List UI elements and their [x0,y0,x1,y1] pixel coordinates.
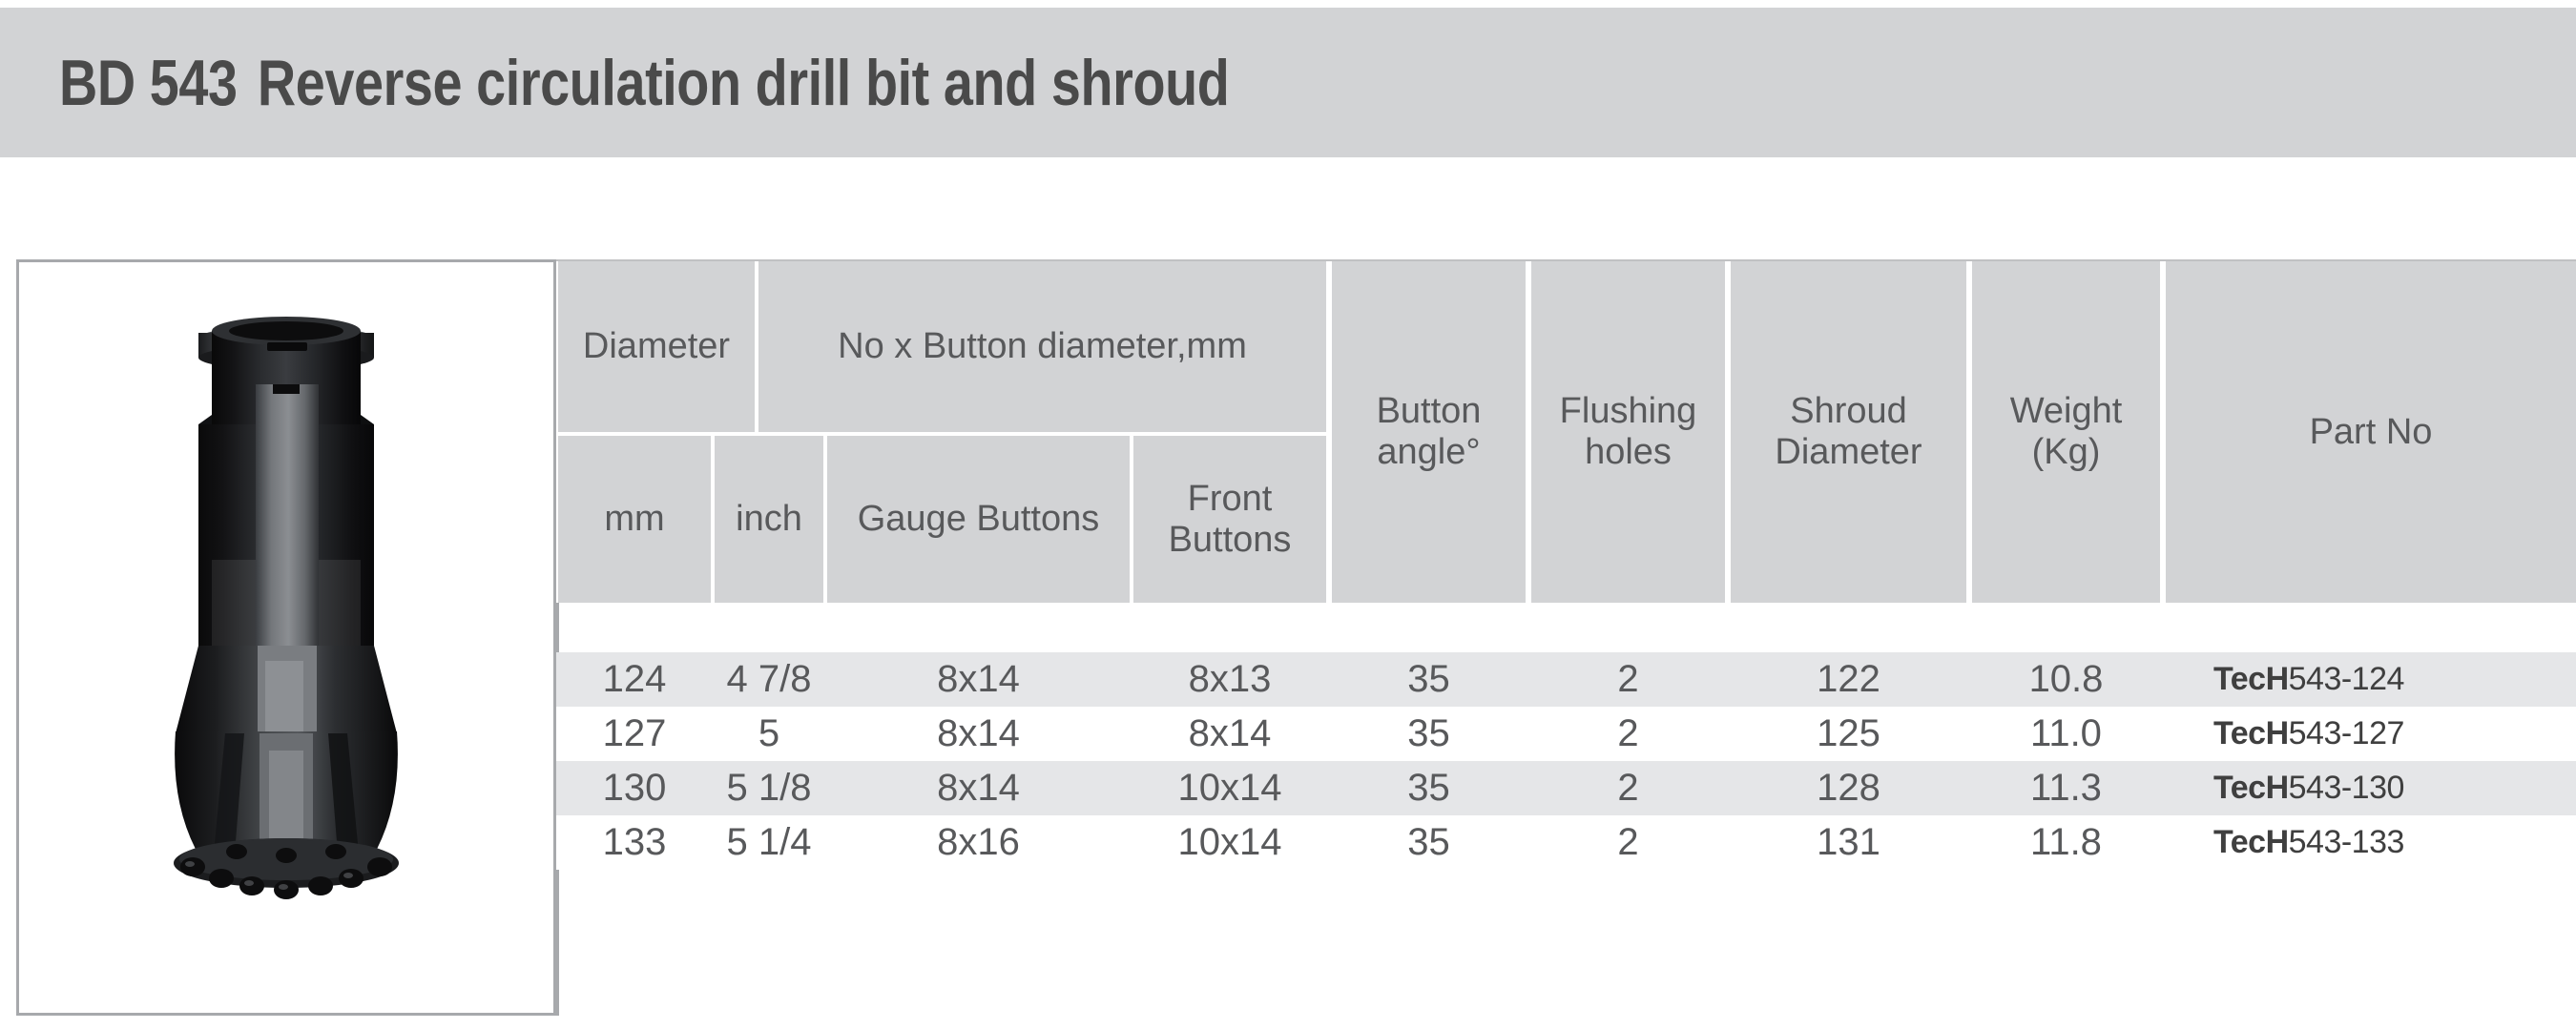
title-banner: BD 543Reverse circulation drill bit and … [0,8,2576,157]
part-no-number: 543-130 [2289,770,2404,807]
drill-bit-image [153,302,420,970]
cell-flushing-holes: 2 [1531,815,1725,870]
cell-gauge-buttons: 8x16 [827,815,1130,870]
cell-part-no: TecH543-133 [2213,815,2576,870]
header-part-no: Part No [2166,261,2576,603]
cell-shroud-diameter: 122 [1731,652,1966,707]
table-row[interactable]: 133 5 1/4 8x16 10x14 35 2 131 11.8 TecH5… [556,815,2576,870]
cell-front-buttons: 10x14 [1133,815,1326,870]
part-no-prefix: TecH [2213,715,2289,752]
cell-button-angle: 35 [1332,761,1526,815]
header-group-button-diameter: No x Button diameter,mm [758,261,1326,432]
part-no-number: 543-133 [2289,824,2404,861]
content-area: Diameter No x Button diameter,mm mm inch… [0,259,2576,1018]
header-inch: inch [715,436,823,603]
table-row[interactable]: 130 5 1/8 8x14 10x14 35 2 128 11.3 TecH5… [556,761,2576,815]
cell-shroud-diameter: 128 [1731,761,1966,815]
cell-button-angle: 35 [1332,815,1526,870]
cell-part-no: TecH543-127 [2213,707,2576,761]
cell-front-buttons: 8x13 [1133,652,1326,707]
cell-part-no: TecH543-130 [2213,761,2576,815]
cell-flushing-holes: 2 [1531,707,1725,761]
cell-flushing-holes: 2 [1531,652,1725,707]
cell-front-buttons: 8x14 [1133,707,1326,761]
cell-inch: 5 1/8 [715,761,823,815]
cell-button-angle: 35 [1332,707,1526,761]
cell-gauge-buttons: 8x14 [827,761,1130,815]
cell-front-buttons: 10x14 [1133,761,1326,815]
cell-weight: 10.8 [1972,652,2160,707]
header-weight: Weight (Kg) [1972,261,2160,603]
cell-weight: 11.3 [1972,761,2160,815]
cell-shroud-diameter: 125 [1731,707,1966,761]
part-no-prefix: TecH [2213,661,2289,698]
header-gauge-buttons: Gauge Buttons [827,436,1130,603]
cell-part-no: TecH543-124 [2213,652,2576,707]
model-code: BD 543 [59,47,238,119]
product-image-cell [16,259,556,1016]
header-group-diameter: Diameter [558,261,755,432]
cell-gauge-buttons: 8x14 [827,652,1130,707]
table-header: Diameter No x Button diameter,mm mm inch… [556,261,2576,603]
header-front-buttons: Front Buttons [1133,436,1326,603]
part-no-prefix: TecH [2213,824,2289,861]
cell-gauge-buttons: 8x14 [827,707,1130,761]
header-shroud-diameter: Shroud Diameter [1731,261,1966,603]
page-title: BD 543Reverse circulation drill bit and … [59,46,1229,120]
cell-inch: 5 [715,707,823,761]
cell-mm: 124 [558,652,711,707]
table-row[interactable]: 124 4 7/8 8x14 8x13 35 2 122 10.8 TecH54… [556,652,2576,707]
cell-inch: 4 7/8 [715,652,823,707]
cell-weight: 11.0 [1972,707,2160,761]
cell-mm: 127 [558,707,711,761]
cell-shroud-diameter: 131 [1731,815,1966,870]
cell-button-angle: 35 [1332,652,1526,707]
specification-table: Diameter No x Button diameter,mm mm inch… [556,259,2576,1016]
part-no-prefix: TecH [2213,770,2289,807]
header-flushing-holes: Flushing holes [1531,261,1725,603]
table-spacer-row [556,603,2576,652]
header-mm: mm [558,436,711,603]
cell-weight: 11.8 [1972,815,2160,870]
part-no-number: 543-124 [2289,661,2404,698]
cell-flushing-holes: 2 [1531,761,1725,815]
cell-mm: 133 [558,815,711,870]
cell-mm: 130 [558,761,711,815]
header-button-angle: Button angle° [1332,261,1526,603]
table-row[interactable]: 127 5 8x14 8x14 35 2 125 11.0 TecH543-12… [556,707,2576,761]
part-no-number: 543-127 [2289,715,2404,752]
title-text: Reverse circulation drill bit and shroud [258,47,1229,119]
cell-inch: 5 1/4 [715,815,823,870]
